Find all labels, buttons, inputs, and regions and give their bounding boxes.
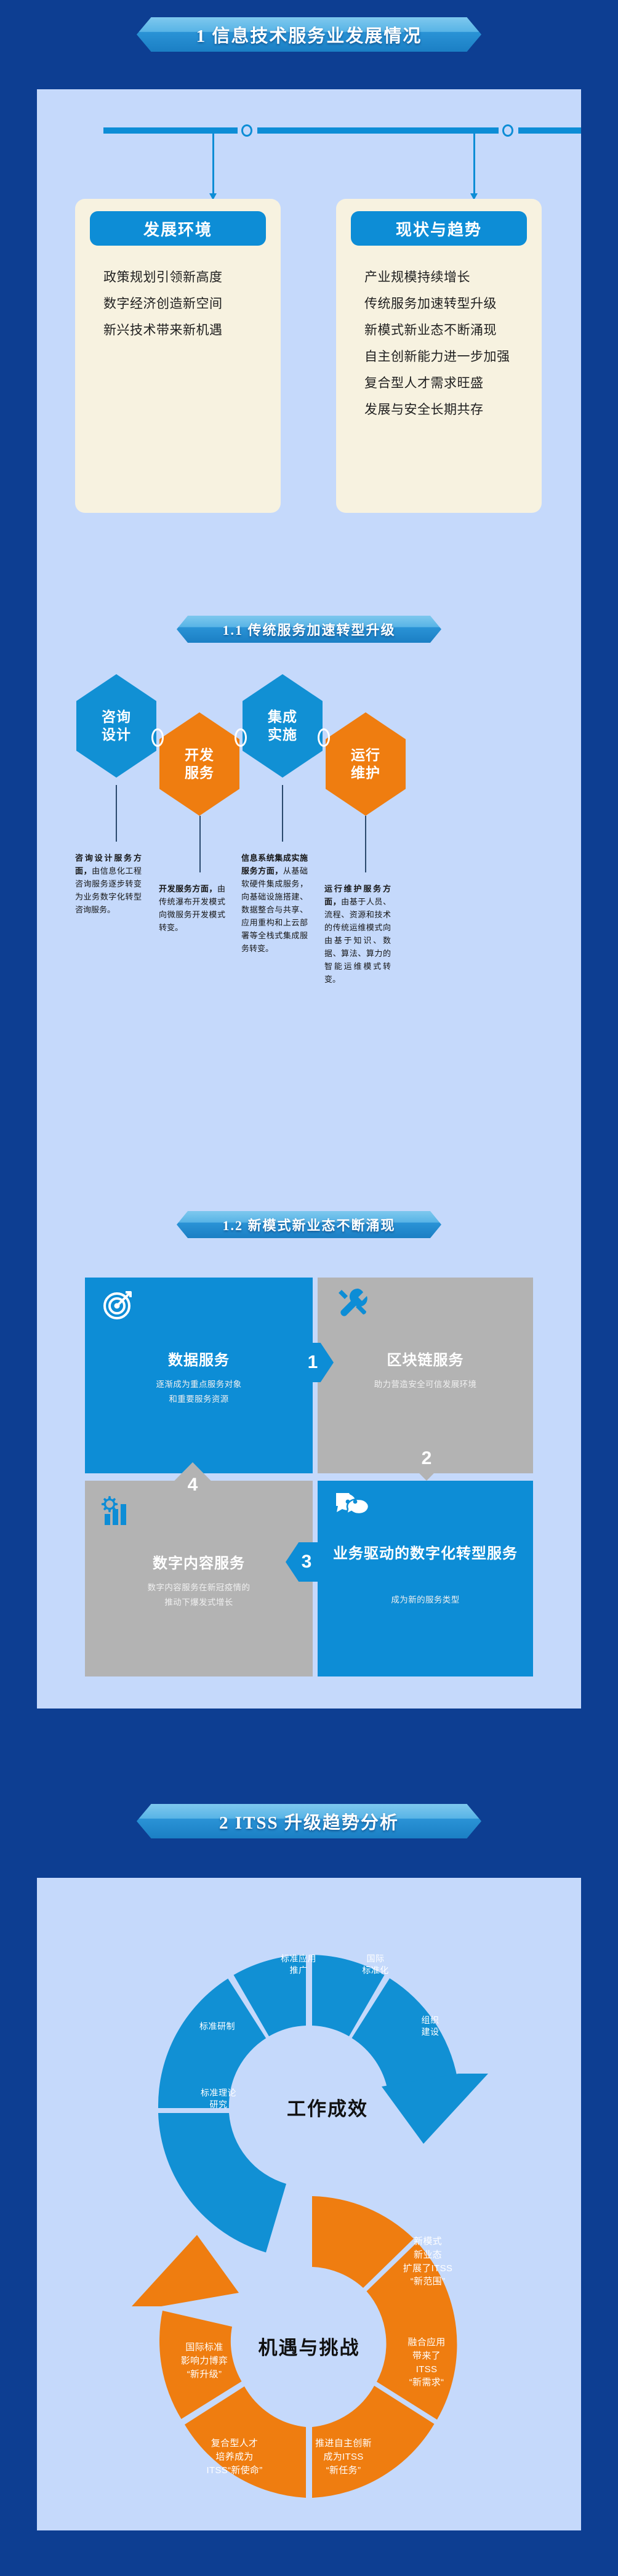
stem-line-2 (199, 816, 201, 872)
quadrant-title-digital-content-service: 数字内容服务 (85, 1555, 313, 1573)
drop-line-left (212, 134, 214, 198)
card-title-status-and-trends: 现状与趋势 (351, 211, 527, 246)
section-1-banner-label: 1 信息技术服务业发展情况 (196, 22, 422, 47)
hexagon-label-line1: 运行 (351, 746, 380, 764)
hexagon-label-line2: 维护 (351, 764, 380, 782)
card-list-status-and-trends: 产业规模持续增长 传统服务加速转型升级 新模式新业态不断涌现 自主创新能力进一步… (336, 264, 542, 423)
hexagon-row: 咨询 设计 开发 服务 集成 实施 运行 维护 (37, 674, 581, 803)
card-list-development-environment: 政策规划引领新高度 数字经济创造新空间 新兴技术带来新机遇 (75, 264, 281, 344)
quadrant-subline: 助力营造安全可信发展环境 (318, 1377, 533, 1392)
blue-ring-center-label: 工作成效 (272, 2093, 383, 2121)
hexagon-integration-implementation: 集成 实施 (243, 674, 323, 778)
list-item: 产业规模持续增长 (364, 264, 542, 291)
description-operation-maintenance: 运行维护服务方面，由基于人员、流程、资源和技术的传统运维模式向由基于知识、数据、… (324, 882, 391, 986)
quadrant-title-data-service: 数据服务 (85, 1351, 313, 1370)
arrow-marker-2: 2 (407, 1445, 446, 1481)
chat-icon (336, 1493, 371, 1526)
ring-label-line: 复合型人才 (182, 2437, 287, 2450)
quadrant-digital-transformation-service: 业务驱动的数字化转型服务 成为新的服务类型 (318, 1481, 533, 1676)
section-1-banner: 1 信息技术服务业发展情况 (137, 17, 481, 52)
connector-rail (103, 127, 581, 134)
hexagon-label-line1: 开发 (185, 746, 214, 764)
infographic-page: 1 信息技术服务业发展情况 发展环境 政策规划引领新高度 数字经济创造新空间 新… (0, 0, 618, 2576)
ring-label-line: 推进自主创新 (294, 2437, 393, 2450)
description-integration-implementation: 信息系统集成实施服务方面，从基础软硬件集成服务，向基础设施搭建、数据整合与共享、… (241, 851, 308, 955)
rail-segment-middle (257, 127, 499, 134)
section-1-1-banner: 1.1 传统服务加速转型升级 (177, 616, 441, 643)
ring-label-line: 组织 (403, 2015, 458, 2026)
quadrant-blockchain-service: 区块链服务 助力营造安全可信发展环境 (318, 1278, 533, 1473)
description-body: 从基础软硬件集成服务，向基础设施搭建、数据整合与共享、应用重构和上云部署等全栈式… (241, 866, 308, 953)
ring-label-line: “新升级” (155, 2368, 254, 2381)
section-1-panel: 发展环境 政策规划引领新高度 数字经济创造新空间 新兴技术带来新机遇 现状与趋势… (37, 89, 581, 1709)
section-1-1-banner-label: 1.1 传统服务加速转型升级 (222, 619, 395, 639)
stem-line-3 (282, 785, 283, 842)
blue-ring-label-standard-development: 标准研制 (183, 2021, 251, 2032)
section-2-banner-label: 2 ITSS 升级趋势分析 (219, 1808, 399, 1834)
list-item: 自主创新能力进一步加强 (364, 344, 542, 370)
ring-label-line: ITSS“新使命” (182, 2464, 287, 2477)
arrow-number-1: 1 (308, 1352, 318, 1373)
ring-label-line: 培养成为 (182, 2450, 287, 2464)
hexagon-label-line1: 集成 (268, 708, 297, 726)
ring-label-line: 标准化 (342, 1965, 409, 1976)
hexagon-operation-maintenance: 运行 维护 (326, 712, 406, 816)
orange-ring-label-new-model-new-form: 新模式 新业态 扩展了ITSS “新范围” (382, 2235, 474, 2288)
section-1-2-banner-label: 1.2 新模式新业态不断涌现 (222, 1215, 395, 1234)
ring-label-line: 国际 (342, 1953, 409, 1965)
drop-line-right (473, 134, 475, 198)
blue-ring-label-standard-application: 标准应用 推广 (265, 1953, 332, 1976)
hexagon-label-line2: 服务 (185, 764, 214, 782)
ring-label-line: ITSS (380, 2363, 473, 2377)
card-title-development-environment: 发展环境 (90, 211, 266, 246)
ring-label-line: 研究 (185, 2099, 252, 2111)
chart-gear-icon (101, 1495, 135, 1531)
hexagon-link-3 (318, 728, 330, 747)
ring-label-line: “新需求“ (380, 2376, 473, 2389)
hexagon-development-service: 开发 服务 (159, 712, 239, 816)
list-item: 发展与安全长期共存 (364, 396, 542, 423)
ring-label-line: 融合应用 (380, 2336, 473, 2349)
rail-pin-left (241, 124, 252, 137)
orange-ring-label-composite-talent: 复合型人才 培养成为 ITSS“新使命” (182, 2437, 287, 2477)
list-item: 数字经济创造新空间 (103, 291, 281, 317)
target-icon (102, 1289, 134, 1324)
ring-label-line: 新业态 (382, 2248, 474, 2262)
ring-label-line: 标准研制 (183, 2021, 251, 2032)
quadrant-title-digital-transformation-service: 业务驱动的数字化转型服务 (318, 1545, 533, 1563)
description-consulting-design: 咨询设计服务方面，由信息化工程咨询服务逐步转变为业务数字化转型咨询服务。 (75, 851, 142, 916)
blue-ring-label-international-standardization: 国际 标准化 (342, 1953, 409, 1976)
quadrant-data-service: 数据服务 逐渐成为重点服务对象 和重要服务资源 (85, 1278, 313, 1473)
arrow-number-4: 4 (188, 1475, 198, 1495)
quadrant-grid: 数据服务 逐渐成为重点服务对象 和重要服务资源 区块链服务 助力营造 (37, 1278, 581, 1684)
list-item: 传统服务加速转型升级 (364, 291, 542, 317)
hexagon-label-line2: 实施 (268, 726, 297, 744)
ring-label-line: “新任务” (294, 2464, 393, 2477)
ring-label-line: 标准应用 (265, 1953, 332, 1965)
hexagon-label-line2: 设计 (102, 726, 131, 744)
ring-label-line: 标准理论 (185, 2087, 252, 2099)
quadrant-subline: 数字内容服务在新冠疫情的 (85, 1580, 313, 1595)
rail-segment-left (103, 127, 238, 134)
stem-line-4 (365, 816, 366, 872)
orange-ring-center-label: 机遇与挑战 (235, 2332, 383, 2360)
card-status-and-trends: 现状与趋势 产业规模持续增长 传统服务加速转型升级 新模式新业态不断涌现 自主创… (336, 199, 542, 513)
quadrant-subline: 逐渐成为重点服务对象 (85, 1377, 313, 1392)
rail-segment-right (518, 127, 581, 134)
list-item: 复合型人才需求旺盛 (364, 370, 542, 396)
arrow-number-2: 2 (422, 1448, 432, 1469)
orange-ring-label-integrated-application: 融合应用 带来了 ITSS “新需求“ (380, 2336, 473, 2389)
orange-ring-label-independent-innovation: 推进自主创新 成为ITSS “新任务” (294, 2437, 393, 2477)
blue-ring-label-organization-building: 组织 建设 (403, 2015, 458, 2038)
section-2-panel: 标准应用 推广 国际 标准化 组织 建设 标准研制 标准理论 研究 工作成效 (37, 1878, 581, 2530)
quadrant-digital-content-service: 数字内容服务 数字内容服务在新冠疫情的 推动下爆发式增长 (85, 1481, 313, 1676)
list-item: 新兴技术带来新机遇 (103, 317, 281, 344)
hexagon-consulting-design: 咨询 设计 (76, 674, 156, 778)
ring-label-line: 新模式 (382, 2235, 474, 2248)
ring-label-line: 扩展了ITSS (382, 2262, 474, 2276)
stem-line-1 (116, 785, 117, 842)
description-development-service: 开发服务方面，由传统瀑布开发模式向微服务开发模式转变。 (159, 882, 225, 934)
rail-pin-right (502, 124, 513, 137)
section-1-2-banner: 1.2 新模式新业态不断涌现 (177, 1211, 441, 1238)
arrow-number-3: 3 (302, 1552, 312, 1572)
hexagon-label-line1: 咨询 (102, 708, 131, 726)
ring-label-line: 带来了 (380, 2349, 473, 2363)
ring-label-line: 建设 (403, 2026, 458, 2038)
card-development-environment: 发展环境 政策规划引领新高度 数字经济创造新空间 新兴技术带来新机遇 (75, 199, 281, 513)
description-body: 由基于人员、流程、资源和技术的传统运维模式向由基于知识、数据、算法、算力的智能运… (324, 897, 391, 984)
quadrant-title-blockchain-service: 区块链服务 (318, 1351, 533, 1370)
quadrant-subline: 和重要服务资源 (85, 1392, 313, 1407)
ring-label-line: 成为ITSS (294, 2450, 393, 2464)
hexagon-link-1 (151, 728, 164, 747)
list-item: 新模式新业态不断涌现 (364, 317, 542, 344)
orange-ring-diagram (37, 2186, 581, 2537)
list-item: 政策规划引领新高度 (103, 264, 281, 291)
ring-label-line: “新范围” (382, 2275, 474, 2288)
quadrant-title-text: 业务驱动的数字化转型服务 (333, 1545, 518, 1562)
description-lead: 开发服务方面， (159, 884, 217, 893)
ring-label-line: 推广 (265, 1965, 332, 1976)
quadrant-subline: 推动下爆发式增长 (85, 1595, 313, 1610)
section-2-banner: 2 ITSS 升级趋势分析 (137, 1804, 481, 1838)
quadrant-subline: 成为新的服务类型 (318, 1593, 533, 1608)
blue-ring-label-standard-theory-research: 标准理论 研究 (185, 2087, 252, 2111)
tools-icon (336, 1286, 369, 1321)
hexagon-link-2 (235, 728, 247, 747)
